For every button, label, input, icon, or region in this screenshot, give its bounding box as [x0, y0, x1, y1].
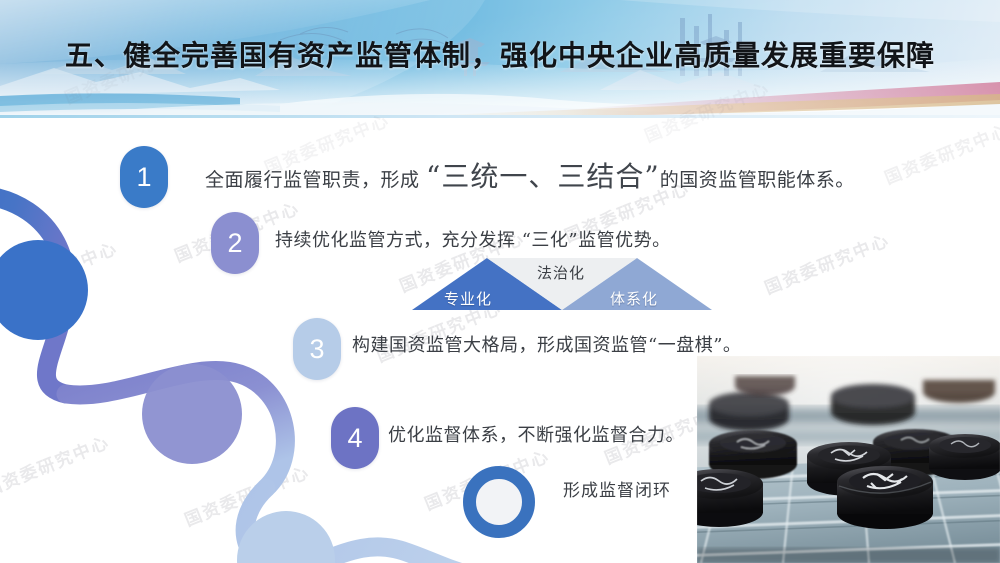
- pyramid-top-label: 法治化: [537, 262, 585, 283]
- chess-photo-illustration: [697, 356, 1000, 563]
- banner-divider: [0, 115, 1000, 118]
- bullet-text-4: 优化监督体系，不断强化监督合力。: [388, 421, 684, 447]
- bullet-1-emphasis: “三统一、三结合”: [426, 160, 660, 193]
- bullet-text-3: 构建国资监管大格局，形成国资监管“一盘棋”。: [352, 331, 741, 357]
- closed-loop-ring-icon: [463, 466, 535, 538]
- pyramid-right-label: 体系化: [610, 288, 658, 309]
- bullet-2-after: 监管优势。: [578, 230, 671, 251]
- bullet-3-after: 。: [723, 335, 742, 356]
- bullet-3-before: 构建国资监管大格局，形成国资监管: [352, 335, 648, 356]
- header-banner: 五、健全完善国有资产监管体制，强化中央企业高质量发展重要保障: [0, 0, 1000, 118]
- watermark: 国资委研究中心: [880, 116, 1000, 189]
- bullet-badge-4[interactable]: 4: [331, 407, 379, 469]
- bullet-number-4: 4: [347, 423, 362, 454]
- bullet-number-1: 1: [136, 162, 151, 193]
- bullet-1-before: 全面履行监管职责，形成: [205, 169, 426, 191]
- bullet-text-1: 全面履行监管职责，形成 “三统一、三结合”的国资监管职能体系。: [205, 155, 855, 195]
- page-title: 五、健全完善国有资产监管体制，强化中央企业高质量发展重要保障: [0, 34, 1000, 74]
- bullet-2-emphasis: “三化”: [522, 230, 578, 251]
- bullet-3-emphasis: “一盘棋”: [648, 335, 723, 356]
- chinese-chess-photo: [697, 356, 1000, 563]
- bullet-number-2: 2: [227, 228, 242, 259]
- bullet-1-after: 的国资监管职能体系。: [660, 169, 855, 191]
- bullet-badge-1[interactable]: 1: [120, 146, 168, 208]
- bullet-4-before: 优化监督体系，不断强化监督合力。: [388, 425, 684, 446]
- bullet-badge-2[interactable]: 2: [211, 212, 259, 274]
- bullet-2-before: 持续优化监管方式，充分发挥: [275, 230, 522, 251]
- pyramid-diagram: 专业化 法治化 体系化: [412, 258, 712, 310]
- bullet-text-2: 持续优化监管方式，充分发挥 “三化”监管优势。: [275, 226, 671, 252]
- flow-circle-dark: [0, 240, 88, 340]
- closed-loop-caption: 形成监督闭环: [563, 476, 671, 501]
- slide-canvas: 五、健全完善国有资产监管体制，强化中央企业高质量发展重要保障 国资委研究中心 国…: [0, 0, 1000, 563]
- bullet-number-3: 3: [309, 334, 324, 365]
- watermark: 国资委研究中心: [760, 226, 893, 299]
- pyramid-left-label: 专业化: [444, 288, 492, 309]
- flow-circle-purple: [142, 364, 242, 464]
- bullet-badge-3[interactable]: 3: [293, 318, 341, 380]
